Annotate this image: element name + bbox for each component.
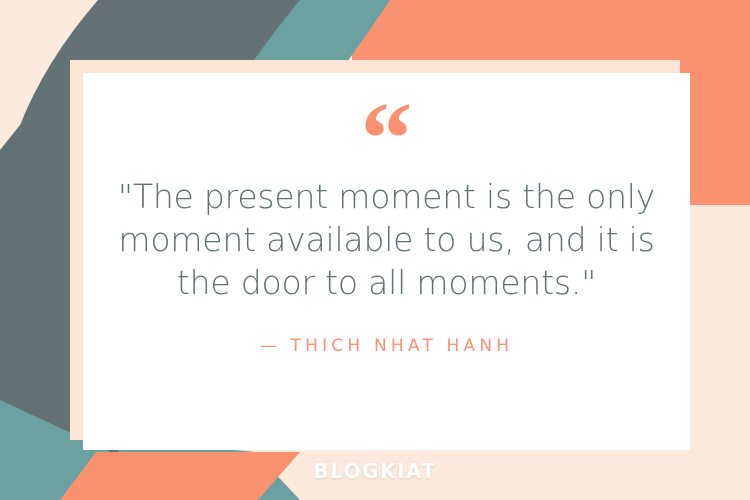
opening-double-quote-icon: “ [361,87,413,159]
quote-card: “ "The present moment is the only moment… [83,73,690,450]
quote-poster: “ "The present moment is the only moment… [0,0,750,500]
quote-line: "The present moment is the only [97,175,677,218]
quote-line: the door to all moments." [97,261,677,304]
quote-text: "The present moment is the only moment a… [97,175,677,304]
quote-line: moment available to us, and it is [97,218,677,261]
quote-attribution: — THICH NHAT HANH [260,336,514,356]
watermark-blogkiat: BLOGKIAT [0,459,750,483]
